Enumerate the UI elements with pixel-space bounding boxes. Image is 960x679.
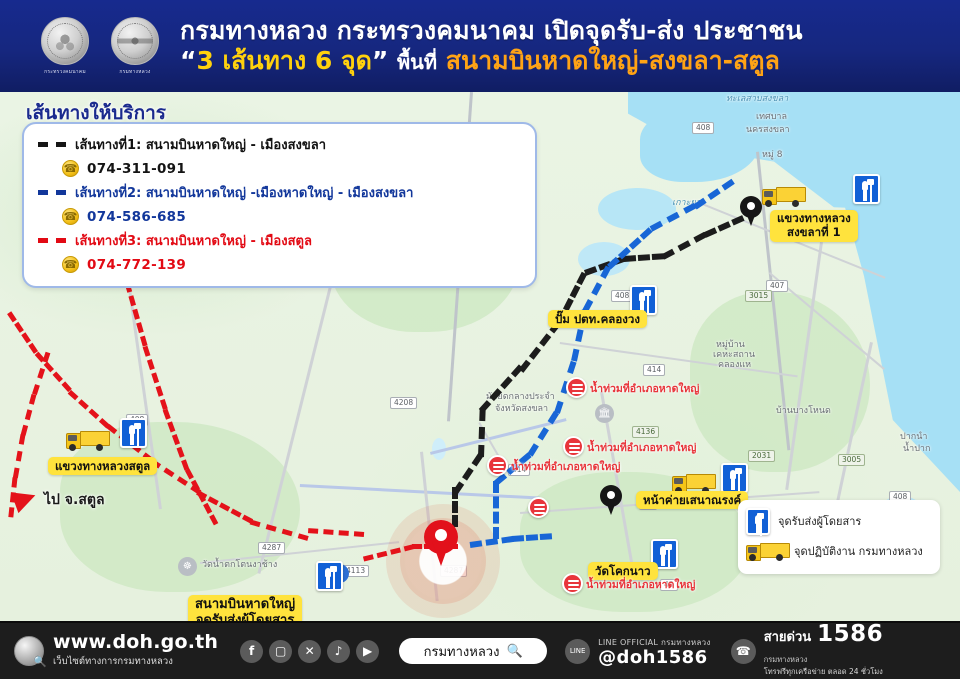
legend-operation-point-row: จุดปฏิบัติงาน กรมทางหลวง [746, 536, 932, 566]
header-title-block: กรมทางหลวง กระทรวงคมนาคม เปิดจุดรับ-ส่ง … [180, 17, 803, 75]
badge-line-1: แขวงทางหลวง [777, 212, 851, 226]
hotline-block[interactable]: ☎ สายด่วน กรมทางหลวง 1586 โทรฟรีทุกเครือ… [731, 624, 884, 678]
map-pin-songkhla-highway-district[interactable] [740, 196, 762, 226]
route-shield: 4136 [632, 426, 659, 438]
page-title: กรมทางหลวง กระทรวงคมนาคม เปิดจุดรับ-ส่ง … [180, 17, 803, 44]
flood-warning-icon [487, 455, 508, 476]
legend-pickup-dropoff-row: จุดรับส่งผู้โดยสาร [746, 506, 932, 536]
subtitle-area: สนามบินหาดใหญ่-สงขลา-สตูล [446, 46, 780, 75]
legend-route-1-phone-row[interactable]: 074-311-091 [38, 156, 521, 181]
quote-open: “ [180, 46, 196, 75]
badge-songkhla-highway-district-1: แขวงทางหลวง สงขลาที่ 1 [770, 210, 858, 242]
instagram-icon[interactable]: ▢ [269, 640, 292, 663]
x-twitter-icon[interactable]: ✕ [298, 640, 321, 663]
legend-route-3-phone-row[interactable]: 074-772-139 [38, 252, 521, 277]
route-shield: 414 [643, 364, 665, 376]
pedestrian-sign-icon [120, 418, 147, 448]
page-header: กระทรวงคมนาคม กรมทางหลวง กรมทางหลวง กระท… [0, 0, 960, 92]
youtube-icon[interactable]: ▶ [356, 640, 379, 663]
badge-hatyai-airport: สนามบินหาดใหญ่ จุดรับส่งผู้โดยสาร [188, 595, 302, 621]
flood-warning-icon [563, 436, 584, 457]
legend-panel: เส้นทางที่1: สนามบินหาดใหญ่ - เมืองสงขลา… [22, 122, 537, 288]
route-2-dash-icon [38, 190, 66, 195]
ministry-of-transport-seal: กระทรวงคมนาคม [34, 17, 96, 76]
route-shield: 4287 [258, 542, 285, 554]
legend-route-2-phone-row[interactable]: 074-586-685 [38, 204, 521, 229]
legend-operation-point-label: จุดปฏิบัติงาน กรมทางหลวง [794, 542, 923, 560]
legend-route-3-label: เส้นทางที่3: สนามบินหาดใหญ่ - เมืองสตูล [75, 230, 312, 251]
route-shield: 2031 [748, 450, 775, 462]
pedestrian-sign-icon [746, 508, 770, 535]
ministry-seal-caption: กระทรวงคมนาคม [44, 68, 86, 76]
route-2-segment [493, 481, 499, 539]
flood-warning-label: น้ำท่วมที่อำเภอหาดใหญ่ [511, 458, 620, 475]
place-label: จังหวัดสงขลา [495, 404, 548, 415]
route-shield: 3005 [838, 454, 865, 466]
line-icon: LINE [565, 639, 590, 664]
infographic-page: กระทรวงคมนาคม กรมทางหลวง กรมทางหลวง กระท… [0, 0, 960, 679]
temple-poi-icon: ☸ [178, 557, 197, 576]
flood-warning-label: น้ำท่วมที่อำเภอหาดใหญ่ [590, 380, 699, 397]
direction-arrow-label: ไป จ.สตูล [44, 489, 105, 511]
icon-legend-card: จุดรับส่งผู้โดยสาร จุดปฏิบัติงาน กรมทางห… [738, 500, 940, 574]
flood-warning-icon [562, 573, 583, 594]
search-pill[interactable]: กรมทางหลวง 🔍 [399, 638, 547, 664]
agency-seals: กระทรวงคมนาคม กรมทางหลวง [34, 17, 166, 76]
hotline-text-block: สายด่วน กรมทางหลวง 1586 โทรฟรีทุกเครือข่… [764, 624, 884, 678]
badge-line-1: สนามบินหาดใหญ่ [195, 597, 295, 613]
map-pin-hatyai-airport[interactable] [424, 520, 458, 566]
route-shield: 408 [692, 122, 714, 134]
highways-seal-icon [111, 17, 159, 65]
mosque-poi-icon: 🏛 [595, 404, 614, 423]
hotline-word: สายด่วน [764, 630, 811, 645]
place-label: บ้านบางโหนด [776, 406, 831, 417]
route-shield: 4208 [390, 397, 417, 409]
globe-icon [14, 636, 44, 666]
legend-route-2-phone: 074-586-685 [87, 209, 186, 225]
website-url[interactable]: www.doh.go.th [53, 633, 218, 652]
subtitle-highlight: 3 เส้นทาง 6 จุด [196, 46, 371, 75]
legend-route-1-phone: 074-311-091 [87, 161, 186, 177]
truck-icon [66, 429, 110, 451]
legend-route-3-phone: 074-772-139 [87, 257, 186, 273]
legend-route-3: เส้นทางที่3: สนามบินหาดใหญ่ - เมืองสตูล [38, 229, 521, 252]
truck-icon [762, 185, 806, 207]
badge-senanarong-camp: หน้าค่ายเสนาณรงค์ [636, 491, 748, 509]
magnifier-icon[interactable]: 🔍 [506, 644, 522, 659]
place-label: น้ำปาก [903, 444, 930, 455]
route-3-dash-icon [38, 238, 66, 243]
badge-line-2: จุดรับส่งผู้โดยสาร [195, 613, 295, 621]
hotline-org: กรมทางหลวง [764, 655, 808, 664]
badge-ptt-khlongwong: ปั๊ม ปตท.คลองวง [548, 310, 647, 328]
place-label: หมู่ 8 [762, 150, 782, 161]
flood-warning-label: น้ำท่วมที่อำเภอหาดใหญ่ [586, 576, 695, 593]
subtitle-mid: พื้นที่ [397, 50, 437, 74]
route-shield: 3015 [745, 290, 772, 302]
legend-route-2-label: เส้นทางที่2: สนามบินหาดใหญ่ -เมืองหาดใหญ… [75, 182, 413, 203]
place-label: ปากนำ [900, 432, 927, 443]
facebook-icon[interactable]: f [240, 640, 263, 663]
badge-satun-highway-district: แขวงทางหลวงสตูล [48, 457, 157, 475]
legend-route-1-label: เส้นทางที่1: สนามบินหาดใหญ่ - เมืองสงขลา [75, 134, 326, 155]
flood-warning-icon [566, 377, 587, 398]
place-label: เทศบาล [756, 112, 787, 123]
place-label: ทะเลสาบสงขลา [726, 94, 788, 105]
pedestrian-sign-icon [721, 463, 748, 493]
place-label: คลองแห [718, 360, 751, 371]
phone-icon [62, 208, 79, 225]
coast-inlet [930, 382, 960, 452]
line-text-block: LINE OFFICIAL กรมทางหลวง @doh1586 [598, 636, 711, 667]
phone-icon [62, 256, 79, 273]
place-label: นครสงขลา [746, 125, 790, 136]
page-footer: www.doh.go.th เว็บไซต์ทางการกรมทางหลวง f… [0, 621, 960, 679]
legend-route-2: เส้นทางที่2: สนามบินหาดใหญ่ -เมืองหาดใหญ… [38, 181, 521, 204]
highways-seal-caption: กรมทางหลวง [119, 68, 150, 76]
quote-close: ” [372, 46, 388, 75]
tiktok-icon[interactable]: ♪ [327, 640, 350, 663]
pedestrian-sign-icon [853, 174, 880, 204]
truck-icon [746, 541, 786, 561]
social-links: f ▢ ✕ ♪ ▶ [240, 640, 379, 663]
page-subtitle: “3 เส้นทาง 6 จุด” พื้นที่ สนามบินหาดใหญ่… [180, 47, 803, 75]
legend-pickup-dropoff-label: จุดรับส่งผู้โดยสาร [778, 512, 861, 530]
pedestrian-sign-icon [316, 561, 343, 591]
badge-line-2: สงขลาที่ 1 [777, 226, 851, 240]
phone-handset-icon: ☎ [731, 639, 756, 664]
route-1-dash-icon [38, 142, 66, 147]
website-subtitle: เว็บไซต์ทางการกรมทางหลวง [53, 654, 218, 669]
map-pin-senanarong-camp[interactable] [600, 485, 622, 515]
flood-warning-label: น้ำท่วมที่อำเภอหาดใหญ่ [587, 439, 696, 456]
phone-icon [62, 160, 79, 177]
search-text: กรมทางหลวง [424, 641, 500, 662]
place-label: วัดน้ำตกโตนงาช้าง [202, 560, 277, 571]
ministry-seal-icon [41, 17, 89, 65]
legend-route-1: เส้นทางที่1: สนามบินหาดใหญ่ - เมืองสงขลา [38, 133, 521, 156]
flood-warning-icon [528, 497, 549, 518]
hotline-number: 1586 [817, 624, 883, 646]
website-block[interactable]: www.doh.go.th เว็บไซต์ทางการกรมทางหลวง [53, 633, 218, 669]
department-of-highways-seal: กรมทางหลวง [104, 17, 166, 76]
hotline-note: โทรฟรีทุกเครือข่าย ตลอด 24 ชั่วโมง [764, 666, 884, 678]
line-official-block[interactable]: LINE LINE OFFICIAL กรมทางหลวง @doh1586 [565, 636, 711, 667]
line-official-id: @doh1586 [598, 649, 711, 667]
map-canvas[interactable]: 408 407 408 414 4208 4287 4287 43 408 40… [0, 92, 960, 621]
